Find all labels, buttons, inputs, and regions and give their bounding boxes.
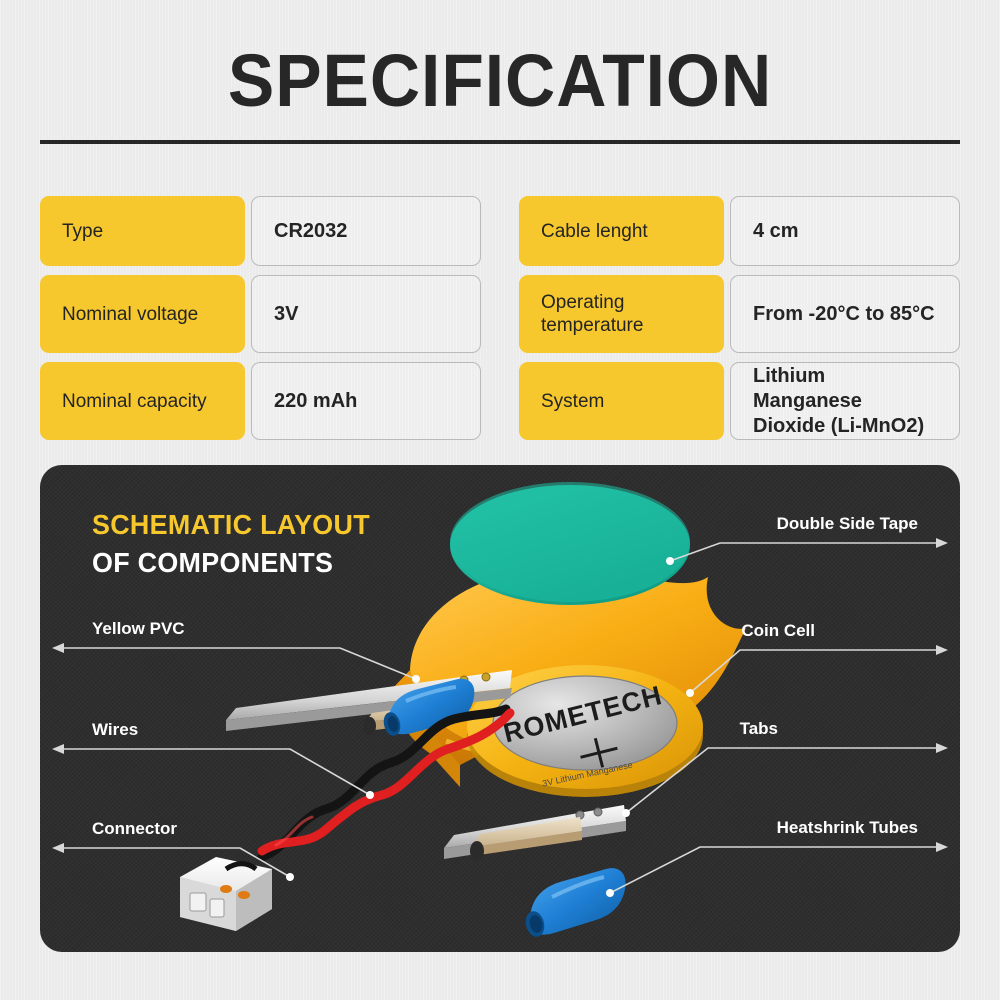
- spec-row-system: System Lithium Manganese Dioxide (Li-MnO…: [519, 362, 960, 440]
- spec-value-cable-length: 4 cm: [730, 196, 960, 266]
- spec-label-system: System: [519, 362, 724, 440]
- page-title: SPECIFICATION: [30, 44, 970, 118]
- spec-value-type: CR2032: [251, 196, 481, 266]
- schematic-heading-line2: OF COMPONENTS: [92, 547, 370, 579]
- schematic-heading: SCHEMATIC LAYOUT OF COMPONENTS: [92, 509, 381, 579]
- spec-row-operating-temperature: Operating temperature From -20°C to 85°C: [519, 275, 960, 353]
- schematic-panel: SCHEMATIC LAYOUT OF COMPONENTS: [40, 465, 960, 952]
- spec-value-operating-temperature: From -20°C to 85°C: [730, 275, 960, 353]
- spec-value-nominal-voltage: 3V: [251, 275, 481, 353]
- connector-part: [180, 857, 272, 931]
- callout-tabs: Tabs: [740, 719, 778, 739]
- specification-infographic: SPECIFICATION Type CR2032 Cable lenght 4…: [0, 0, 1000, 1000]
- spec-row-nominal-voltage: Nominal voltage 3V: [40, 275, 481, 353]
- callout-coin-cell: Coin Cell: [741, 621, 815, 641]
- callout-double-side-tape: Double Side Tape: [777, 514, 918, 534]
- blue-boot-lower: [523, 868, 626, 939]
- callout-yellow-pvc: Yellow PVC: [92, 619, 185, 639]
- double-side-tape-part: [450, 482, 690, 605]
- schematic-heading-line1: SCHEMATIC LAYOUT: [92, 509, 370, 541]
- callout-wires: Wires: [92, 720, 138, 740]
- spec-label-nominal-capacity: Nominal capacity: [40, 362, 245, 440]
- spec-value-system: Lithium Manganese Dioxide (Li-MnO2): [730, 362, 960, 440]
- spec-row-type: Type CR2032: [40, 196, 481, 266]
- spec-label-nominal-voltage: Nominal voltage: [40, 275, 245, 353]
- spec-label-operating-temperature: Operating temperature: [519, 275, 724, 353]
- spec-label-cable-length: Cable lenght: [519, 196, 724, 266]
- title-divider: [40, 140, 960, 144]
- spec-table: Type CR2032 Cable lenght 4 cm Nominal vo…: [40, 196, 960, 440]
- spec-row-cable-length: Cable lenght 4 cm: [519, 196, 960, 266]
- spec-row-nominal-capacity: Nominal capacity 220 mAh: [40, 362, 481, 440]
- spec-label-type: Type: [40, 196, 245, 266]
- callout-heatshrink-tubes: Heatshrink Tubes: [777, 818, 918, 838]
- callout-connector: Connector: [92, 819, 177, 839]
- spec-value-nominal-capacity: 220 mAh: [251, 362, 481, 440]
